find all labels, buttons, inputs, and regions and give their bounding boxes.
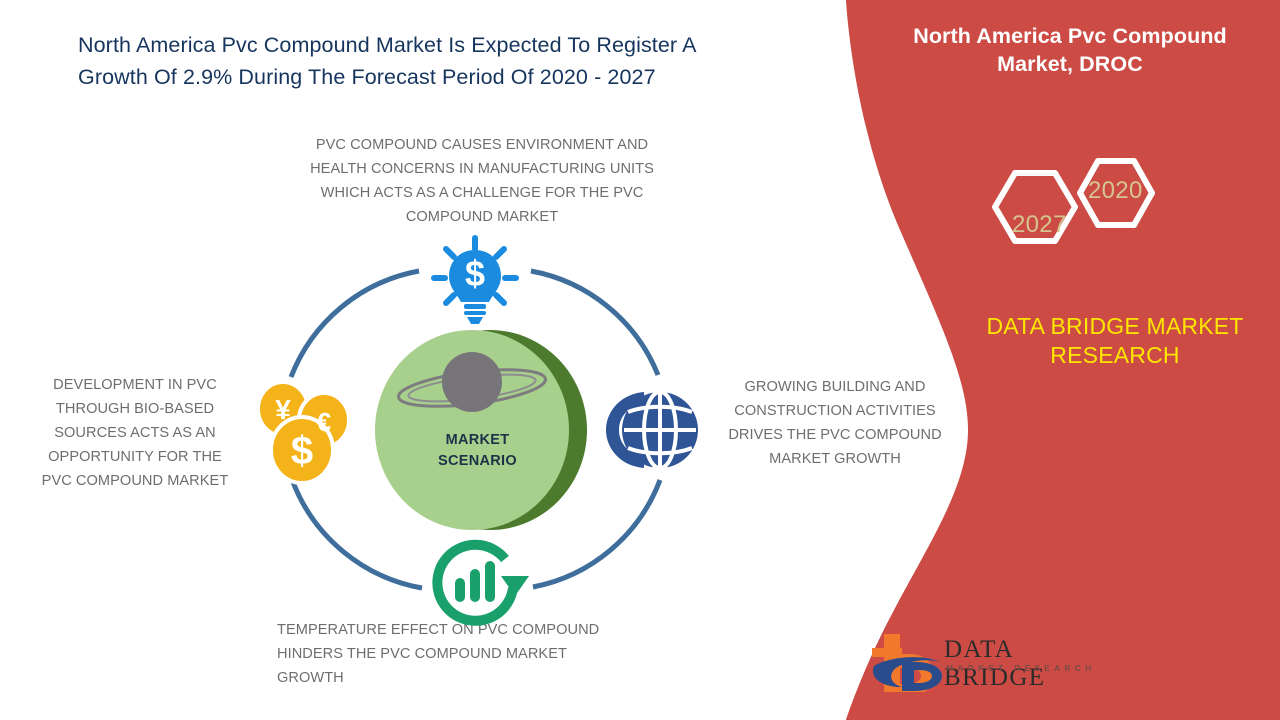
driver-line-4: MARKET GROWTH [710,447,960,471]
hexagon-2027-label: 2027 [1012,211,1067,239]
growth-bars-arrow-icon [437,545,529,621]
driver-line-3: DRIVES THE PVC COMPOUND [710,423,960,447]
coin-dollar-glyph: $ [291,429,313,473]
brand-line-2: RESEARCH [955,341,1275,370]
globe-icon [606,392,698,468]
bar-group [455,561,495,602]
panel-title-line2: Market, DROC [880,50,1260,78]
driver-line-1: GROWING BUILDING AND [710,375,960,399]
bar-1 [455,578,465,602]
challenge-line-2: HEALTH CONCERNS IN MANUFACTURING UNITS [272,157,692,181]
coin-euro-glyph: € [317,407,331,437]
restraint-line-2: HINDERS THE PVC COMPOUND MARKET [277,642,667,666]
year-hexagons: 2020 2027 [985,145,1185,270]
brand-line-1: DATA BRIDGE MARKET [955,312,1275,341]
page-title: North America Pvc Compound Market Is Exp… [78,30,778,94]
coins-currency-icon: ¥ € $ [258,382,349,483]
ring-arc-top-left [291,271,419,377]
coin-yen-glyph: ¥ [275,394,291,425]
panel-title-line1: North America Pvc Compound [880,22,1260,50]
bar-2 [470,569,480,602]
challenge-callout: PVC COMPOUND CAUSES ENVIRONMENT AND HEAL… [272,133,692,229]
bar-3 [485,561,495,602]
lightbulb-dollar-icon: $ [434,238,516,324]
driver-line-2: CONSTRUCTION ACTIVITIES [710,399,960,423]
challenge-line-1: PVC COMPOUND CAUSES ENVIRONMENT AND [272,133,692,157]
challenge-line-3: WHICH ACTS AS A CHALLENGE FOR THE PVC [272,181,692,205]
panel-title: North America Pvc Compound Market, DROC [880,22,1260,79]
opportunity-line-5: PVC COMPOUND MARKET [20,469,250,493]
bulb-dollar-glyph: $ [465,253,485,294]
headline-line-1: North America Pvc Compound Market Is Exp… [78,30,778,62]
opportunity-line-3: SOURCES ACTS AS AN [20,421,250,445]
bulb-base [464,304,486,309]
opportunity-callout: DEVELOPMENT IN PVC THROUGH BIO-BASED SOU… [20,373,250,493]
opportunity-line-2: THROUGH BIO-BASED [20,397,250,421]
hexagon-outlines [985,145,1185,270]
challenge-line-4: COMPOUND MARKET [272,205,692,229]
infographic-slide: North America Pvc Compound Market, DROC … [0,0,1280,720]
center-label-line-1: MARKET [405,430,550,451]
data-bridge-logo: DATA BRIDGE MARKET RESEARCH [866,630,1106,692]
driver-callout: GROWING BUILDING AND CONSTRUCTION ACTIVI… [710,375,960,471]
logo-orange-bar [872,648,902,657]
headline-line-2: Growth Of 2.9% During The Forecast Perio… [78,62,778,94]
planet-body [442,352,502,412]
opportunity-line-4: OPPORTUNITY FOR THE [20,445,250,469]
hexagon-2020-label: 2020 [1088,177,1143,205]
brand-name: DATA BRIDGE MARKET RESEARCH [955,312,1275,370]
opportunity-line-1: DEVELOPMENT IN PVC [20,373,250,397]
logo-tagline: MARKET RESEARCH [946,663,1095,673]
center-label: MARKET SCENARIO [405,430,550,472]
center-label-line-2: SCENARIO [405,451,550,472]
restraint-line-3: GROWTH [277,666,667,690]
arrow-head [501,576,529,596]
